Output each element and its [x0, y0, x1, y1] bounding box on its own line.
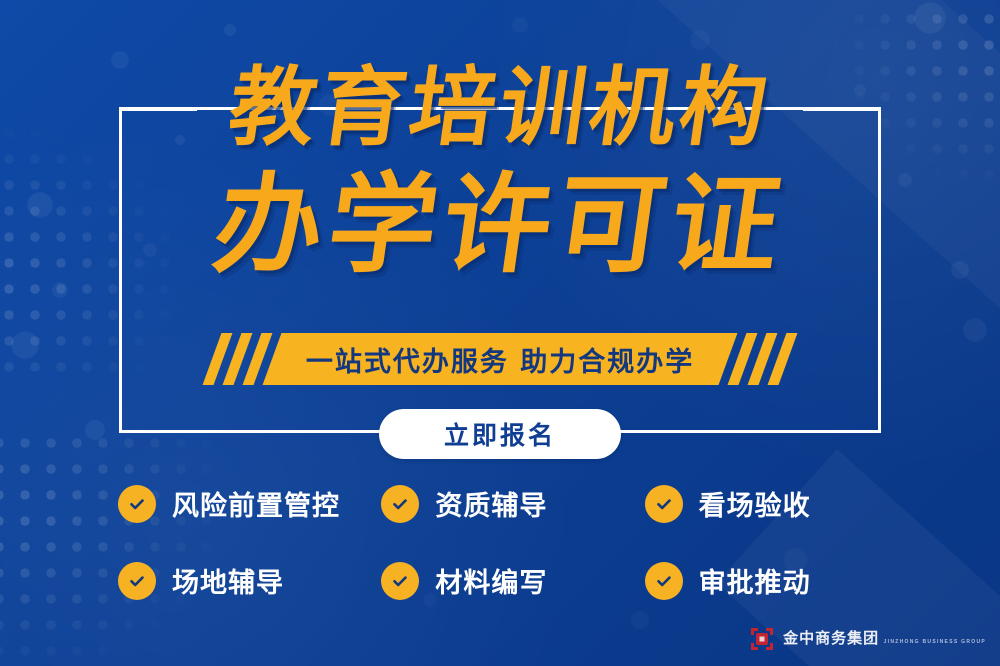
check-circle-icon [118, 485, 156, 523]
watermark-logo: 金中商务集团 JINZHONG BUSINESS GROUP [749, 626, 986, 652]
watermark-name-en: JINZHONG BUSINESS GROUP [884, 639, 986, 645]
slogan-banner: 一站式代办服务 助力合规办学 [262, 333, 737, 385]
watermark-name-cn: 金中商务集团 [783, 629, 879, 647]
watermark-text: 金中商务集团 JINZHONG BUSINESS GROUP [783, 631, 986, 647]
check-circle-icon [381, 485, 419, 523]
slogan-text: 一站式代办服务 助力合规办学 [306, 340, 694, 379]
feature-item[interactable]: 材料编写 [381, 561, 644, 600]
bracket-logo-icon [749, 626, 775, 652]
feature-item[interactable]: 风险前置管控 [118, 484, 381, 523]
headline-block: 教育培训机构 办学许可证 [0, 56, 1000, 285]
check-circle-icon [381, 562, 419, 600]
slogan-banner-row: 一站式代办服务 助力合规办学 [0, 331, 1000, 387]
slanted-stripes-left [212, 333, 263, 385]
signup-button-label: 立即报名 [444, 416, 556, 452]
feature-label: 审批推动 [699, 561, 811, 600]
feature-label: 风险前置管控 [172, 484, 340, 523]
check-circle-icon [645, 562, 683, 600]
page-title: 教育培训机构 [224, 65, 776, 151]
check-circle-icon [645, 485, 683, 523]
title-row-primary: 教育培训机构 [0, 56, 1000, 160]
feature-item[interactable]: 场地辅导 [118, 561, 381, 600]
cta-container: 立即报名 [0, 409, 1000, 459]
title-rule-right [803, 108, 879, 111]
title-rule-left [121, 108, 197, 111]
signup-button[interactable]: 立即报名 [379, 409, 621, 459]
feature-label: 资质辅导 [435, 484, 547, 523]
feature-label: 材料编写 [435, 561, 547, 600]
feature-item[interactable]: 资质辅导 [381, 484, 644, 523]
slanted-stripes-right [737, 333, 788, 385]
check-circle-icon [118, 562, 156, 600]
promo-poster: 教育培训机构 办学许可证 一站式代办服务 助力合规办学 立即报名 [0, 0, 1000, 666]
feature-list: 风险前置管控 资质辅导 看场验收 场地辅 [118, 484, 908, 600]
feature-item[interactable]: 看场验收 [645, 484, 908, 523]
feature-label: 场地辅导 [172, 561, 284, 600]
feature-item[interactable]: 审批推动 [645, 561, 908, 600]
feature-label: 看场验收 [699, 484, 811, 523]
page-subtitle: 办学许可证 [0, 168, 1000, 285]
